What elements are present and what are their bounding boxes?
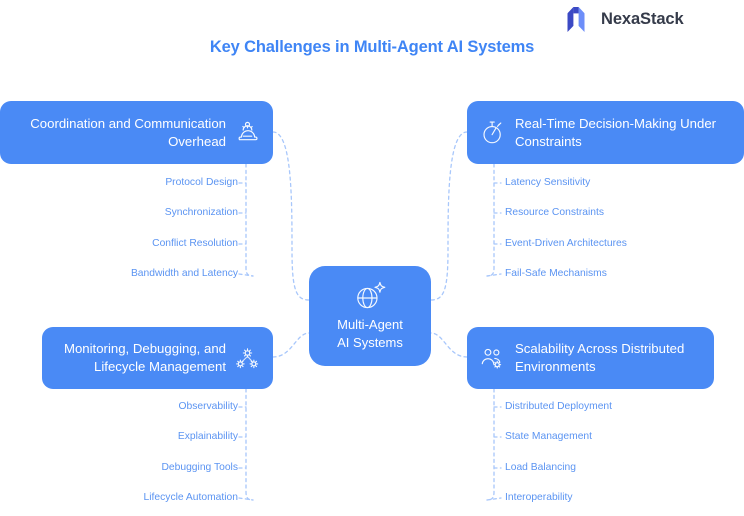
center-node-label: Multi-Agent AI Systems [337,316,403,351]
list-item[interactable]: Conflict Resolution [152,239,238,249]
list-item[interactable]: Lifecycle Automation [144,493,238,503]
list-item[interactable]: State Management [505,432,592,442]
category-box-realtime[interactable]: Real-Time Decision-Making Under Constrai… [467,101,744,164]
category-box-monitoring[interactable]: Monitoring, Debugging, and Lifecycle Man… [42,327,273,389]
connector-leaf-realtime-4 [487,274,501,276]
category-label: Real-Time Decision-Making Under Constrai… [515,115,732,150]
connector-leaf-scalability-4 [487,498,501,500]
list-item[interactable]: Bandwidth and Latency [131,269,238,279]
connector-leaf-monitoring-4 [239,498,253,500]
connector-layer [0,0,744,516]
list-item[interactable]: Event-Driven Architectures [505,239,627,249]
list-item[interactable]: Distributed Deployment [505,402,612,412]
list-item[interactable]: Synchronization [165,208,238,218]
list-item[interactable]: Latency Sensitivity [505,178,590,188]
connector-coordination-center [273,132,309,300]
category-box-scalability[interactable]: Scalability Across Distributed Environme… [467,327,714,389]
connector-spine-monitoring [246,389,253,500]
users-gear-icon [479,345,506,372]
list-item[interactable]: Observability [178,402,238,412]
page-title: Key Challenges in Multi-Agent AI Systems [0,38,744,57]
category-label: Monitoring, Debugging, and Lifecycle Man… [54,340,226,375]
brand-name: NexaStack [601,10,684,29]
list-item[interactable]: Debugging Tools [161,463,238,473]
nexastack-logo-icon [566,6,592,33]
center-node-multi-agent-ai-systems[interactable]: Multi-Agent AI Systems [309,266,431,366]
list-item[interactable]: Resource Constraints [505,208,604,218]
connector-monitoring-center [273,333,309,357]
users-network-icon [234,119,261,146]
brand-logo: NexaStack [566,6,684,33]
list-item[interactable]: Interoperability [505,493,573,503]
diagram-canvas: NexaStack Key Challenges in Multi-Agent … [0,0,744,516]
globe-sparkle-icon [353,280,387,312]
list-item[interactable]: Explainability [178,432,238,442]
connector-scalability-center [431,333,467,357]
connector-spine-realtime [487,164,494,276]
list-item[interactable]: Protocol Design [165,178,238,188]
connector-spine-coordination [246,164,253,276]
category-label: Scalability Across Distributed Environme… [515,340,702,375]
stopwatch-icon [479,119,506,146]
list-item[interactable]: Fail-Safe Mechanisms [505,269,607,279]
list-item[interactable]: Load Balancing [505,463,576,473]
connector-realtime-center [431,132,467,300]
category-box-coordination[interactable]: Coordination and Communication Overhead [0,101,273,164]
connector-leaf-coordination-4 [239,274,253,276]
gears-icon [234,345,261,372]
connector-spine-scalability [487,389,494,500]
category-label: Coordination and Communication Overhead [12,115,226,150]
